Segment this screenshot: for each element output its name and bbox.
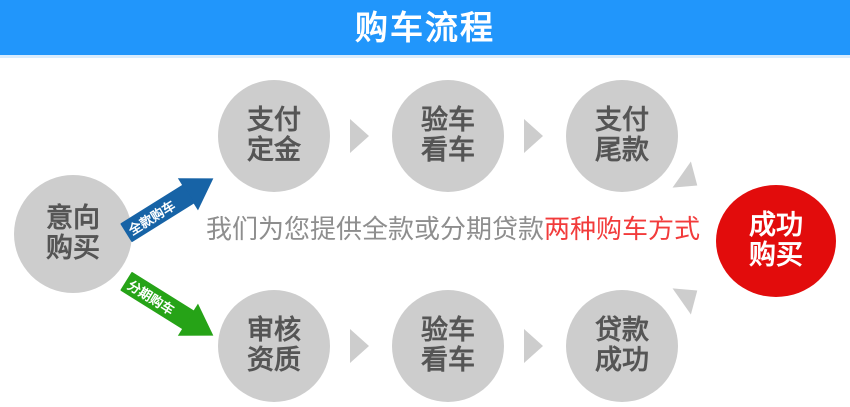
arrow-shaft: 分期购车: [120, 272, 194, 330]
flow-node-start: 意向 购买: [14, 175, 132, 293]
node-label-line2: 定金: [247, 136, 301, 166]
node-label-line1: 验车: [421, 316, 475, 346]
branch-arrow-installment: 分期购车: [117, 267, 227, 353]
flow-canvas: 意向 购买 全款购车 分期购车 支付 定金 验车 看车: [0, 58, 850, 407]
node-label-line1: 验车: [421, 106, 475, 136]
caption-text-red: 两种购车方式: [544, 215, 700, 245]
page-title: 购车流程: [355, 11, 495, 44]
node-label-line2: 购买: [46, 234, 100, 264]
node-label-line2: 购买: [749, 241, 803, 271]
purchase-flow-infographic: 购车流程 意向 购买 全款购车 分期购车 支付 定金: [0, 0, 850, 407]
node-label-line2: 资质: [247, 346, 301, 376]
node-label-line1: 审核: [247, 316, 301, 346]
node-label-line2: 看车: [421, 136, 475, 166]
connector-triangle-icon-join-top: [673, 161, 707, 198]
node-label-line1: 贷款: [595, 316, 649, 346]
header-banner: 购车流程: [0, 0, 850, 55]
node-label-line2: 尾款: [595, 136, 649, 166]
flow-node-top-3: 支付 尾款: [566, 80, 678, 192]
node-label-line1: 成功: [749, 211, 803, 241]
connector-triangle-icon-top-1: [350, 119, 369, 153]
connector-triangle-icon-join-bottom: [673, 277, 707, 314]
center-caption: 我们为您提供全款或分期贷款两种购车方式: [206, 216, 686, 245]
caption-text-gray: 我们为您提供全款或分期贷款: [206, 215, 544, 245]
flow-node-top-1: 支付 定金: [218, 80, 330, 192]
flow-node-bottom-2: 验车 看车: [392, 290, 504, 402]
node-label-line2: 成功: [595, 346, 649, 376]
node-label-line1: 支付: [247, 106, 301, 136]
connector-triangle-icon-bottom-1: [350, 329, 369, 363]
arrow-shaft: 全款购车: [120, 184, 194, 242]
connector-triangle-icon-bottom-2: [524, 329, 543, 363]
flow-node-bottom-1: 审核 资质: [218, 290, 330, 402]
node-label-line2: 看车: [421, 346, 475, 376]
node-label-line1: 意向: [46, 204, 100, 234]
flow-node-bottom-3: 贷款 成功: [566, 290, 678, 402]
node-label-line1: 支付: [595, 106, 649, 136]
flow-node-end: 成功 购买: [716, 185, 836, 297]
flow-node-top-2: 验车 看车: [392, 80, 504, 192]
connector-triangle-icon-top-2: [524, 119, 543, 153]
